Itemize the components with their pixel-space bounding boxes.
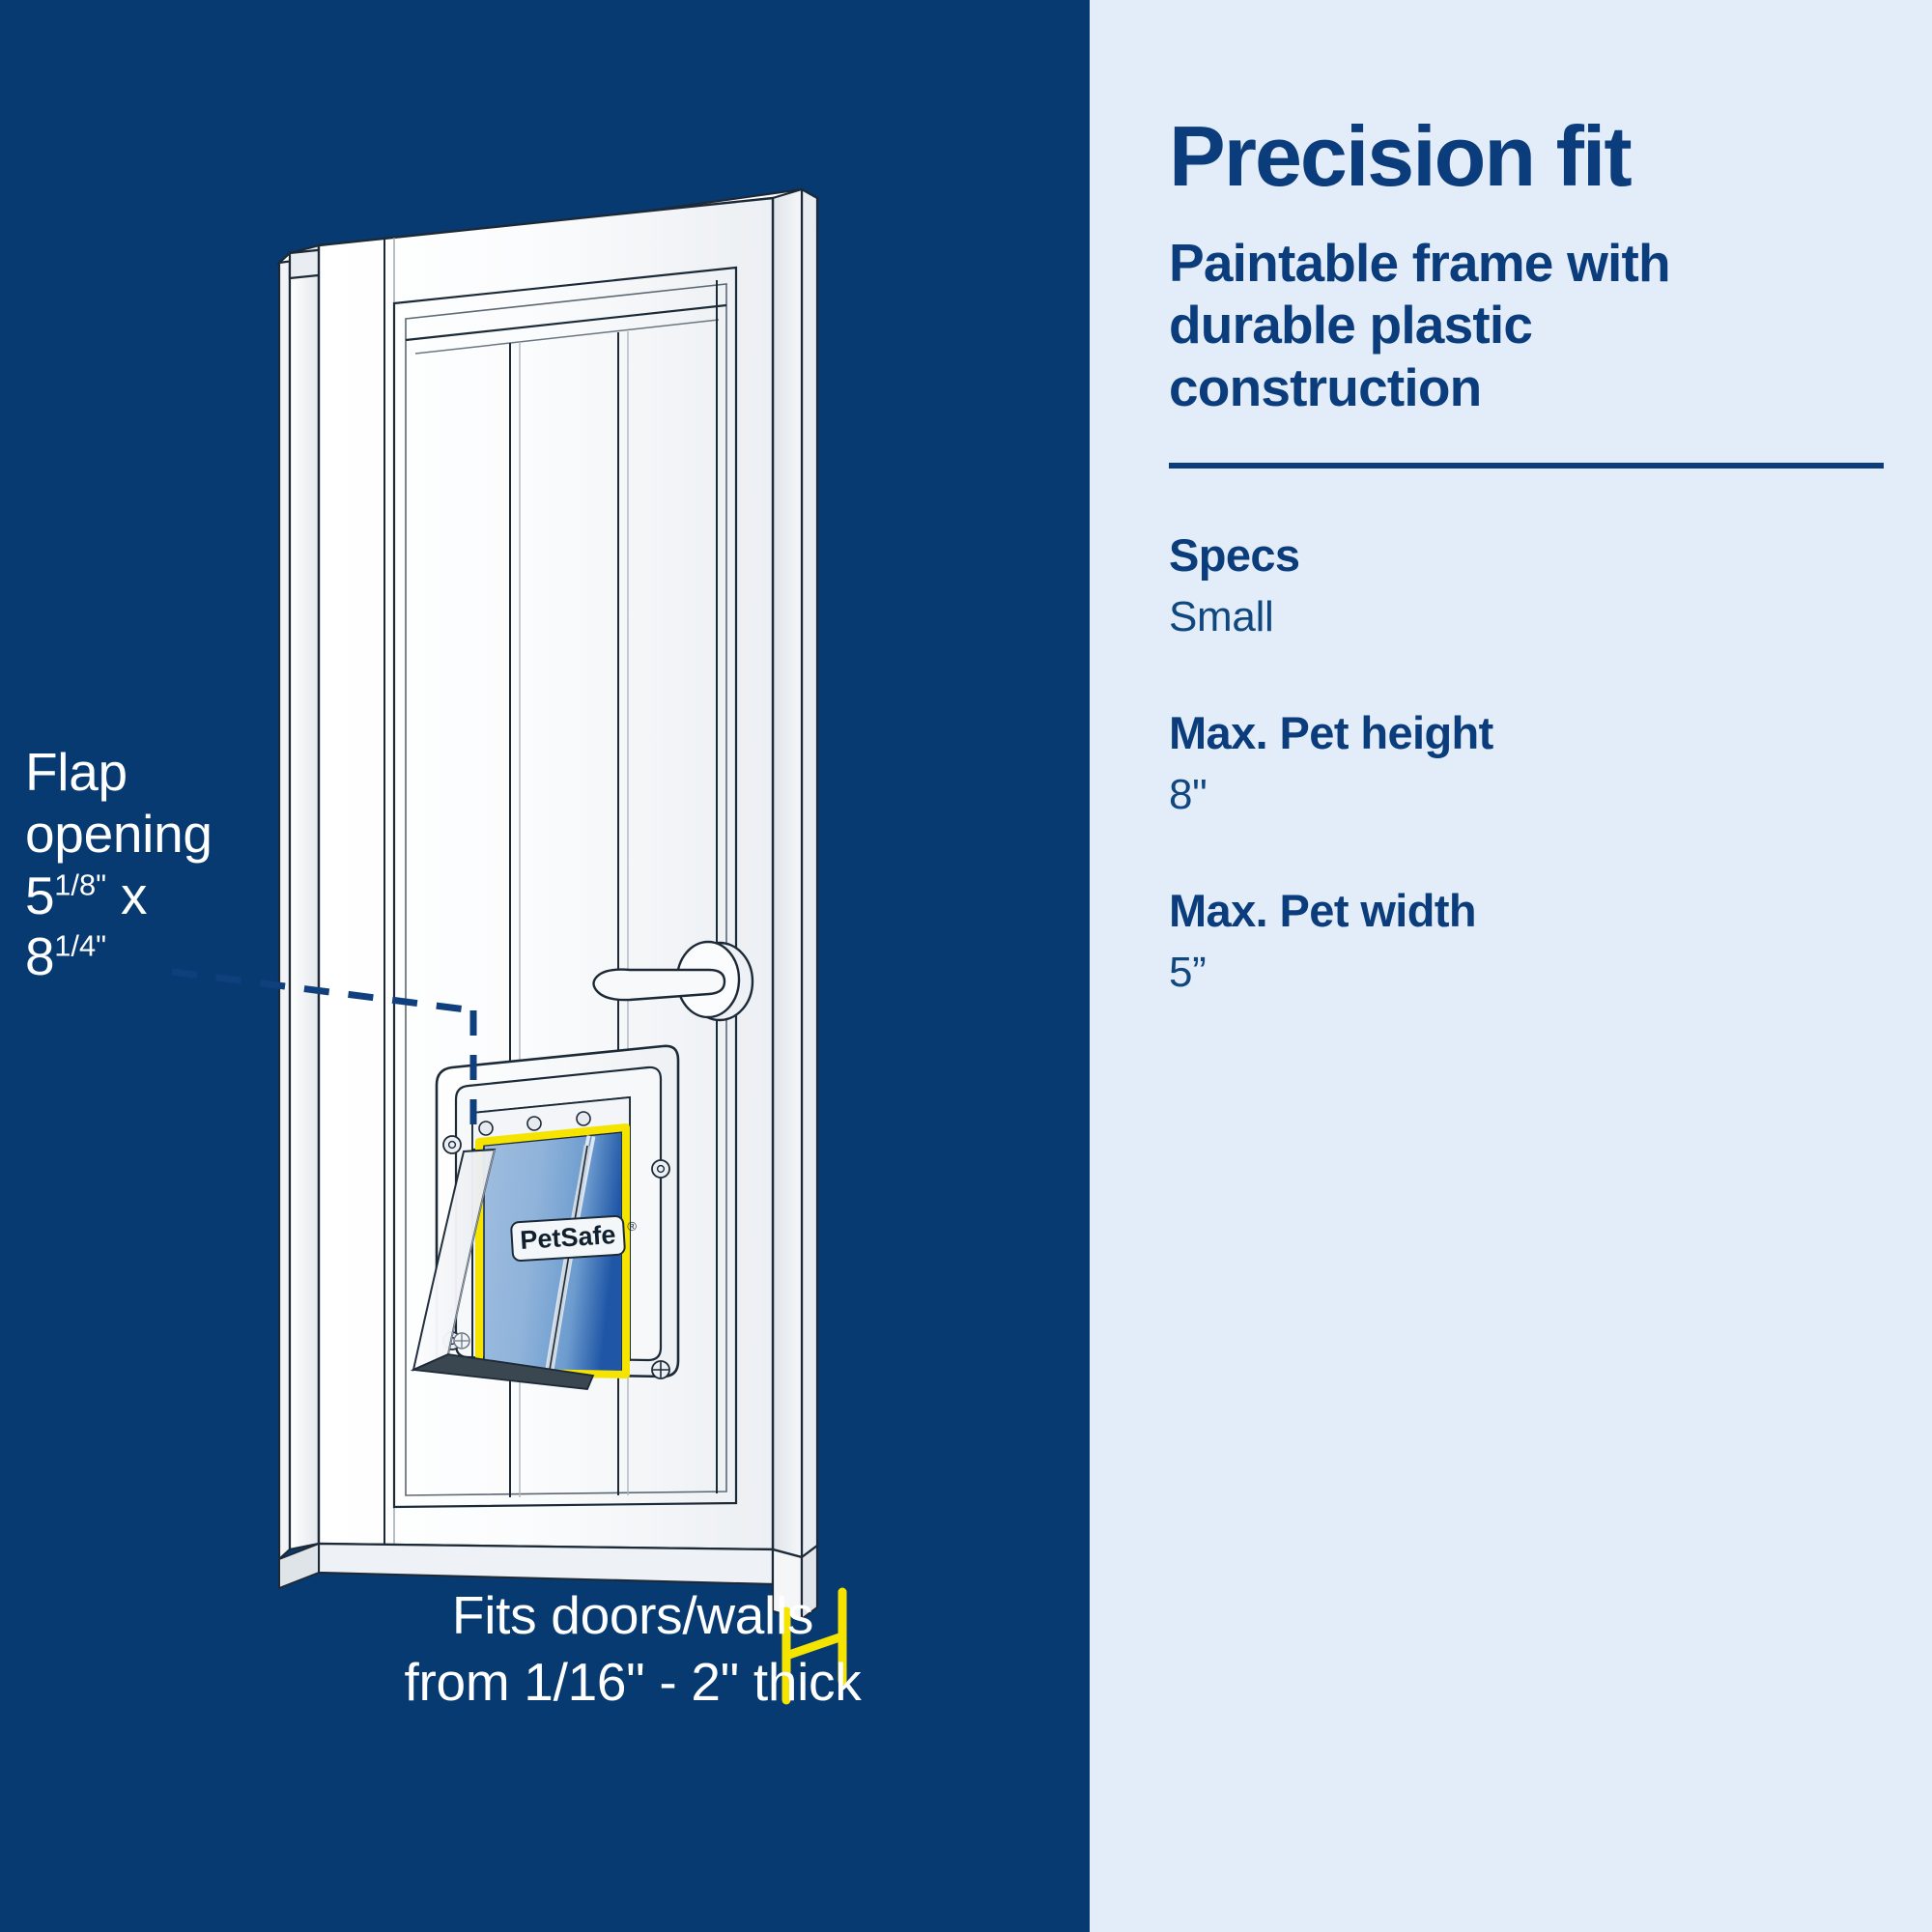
page-title: Precision fit: [1169, 114, 1884, 199]
infographic-canvas: PetSafe ® Flap opening 51/8" x 81/4": [0, 0, 1932, 1932]
door-thickness-caption: Fits doors/walls from 1/16" - 2" thick: [333, 1582, 932, 1717]
section-rule: [1169, 463, 1884, 469]
flap-opening-callout: Flap opening 51/8" x 81/4": [25, 742, 213, 988]
spec-label-pet-width: Max. Pet width: [1169, 884, 1884, 938]
flap-dim2-whole: 8: [25, 926, 54, 986]
flap-dim1-whole: 5: [25, 866, 54, 925]
spec-row-pet-height: Max. Pet height 8": [1169, 706, 1884, 824]
caption-line1: Fits doors/walls: [333, 1582, 932, 1649]
spec-value-pet-height: 8": [1169, 766, 1884, 823]
spec-row-size: Specs Small: [1169, 528, 1884, 646]
flap-dim1-fraction: 1/8": [54, 867, 106, 901]
flap-dim-separator: x: [106, 866, 147, 925]
specs-panel: Precision fit Paintable frame with durab…: [1090, 0, 1932, 1932]
svg-text:PetSafe: PetSafe: [520, 1220, 617, 1255]
petsafe-logo-badge: PetSafe ®: [511, 1215, 638, 1261]
spec-value-size: Small: [1169, 588, 1884, 645]
spec-value-pet-width: 5”: [1169, 944, 1884, 1001]
pet-door-unit: PetSafe ®: [413, 1046, 678, 1389]
illustration-panel: PetSafe ® Flap opening 51/8" x 81/4": [0, 0, 1090, 1932]
flap-callout-line2: opening: [25, 804, 213, 866]
spec-label-pet-height: Max. Pet height: [1169, 706, 1884, 760]
spec-label-size: Specs: [1169, 528, 1884, 582]
svg-text:®: ®: [627, 1219, 638, 1235]
flap-dimension-height: 81/4": [25, 926, 213, 988]
flap-dimension-width: 51/8" x: [25, 866, 213, 927]
flap-dim2-fraction: 1/4": [54, 929, 106, 963]
flap-callout-line1: Flap: [25, 742, 213, 804]
caption-line2: from 1/16" - 2" thick: [333, 1649, 932, 1716]
subheading: Paintable frame with durable plastic con…: [1169, 232, 1806, 418]
spec-row-pet-width: Max. Pet width 5”: [1169, 884, 1884, 1002]
